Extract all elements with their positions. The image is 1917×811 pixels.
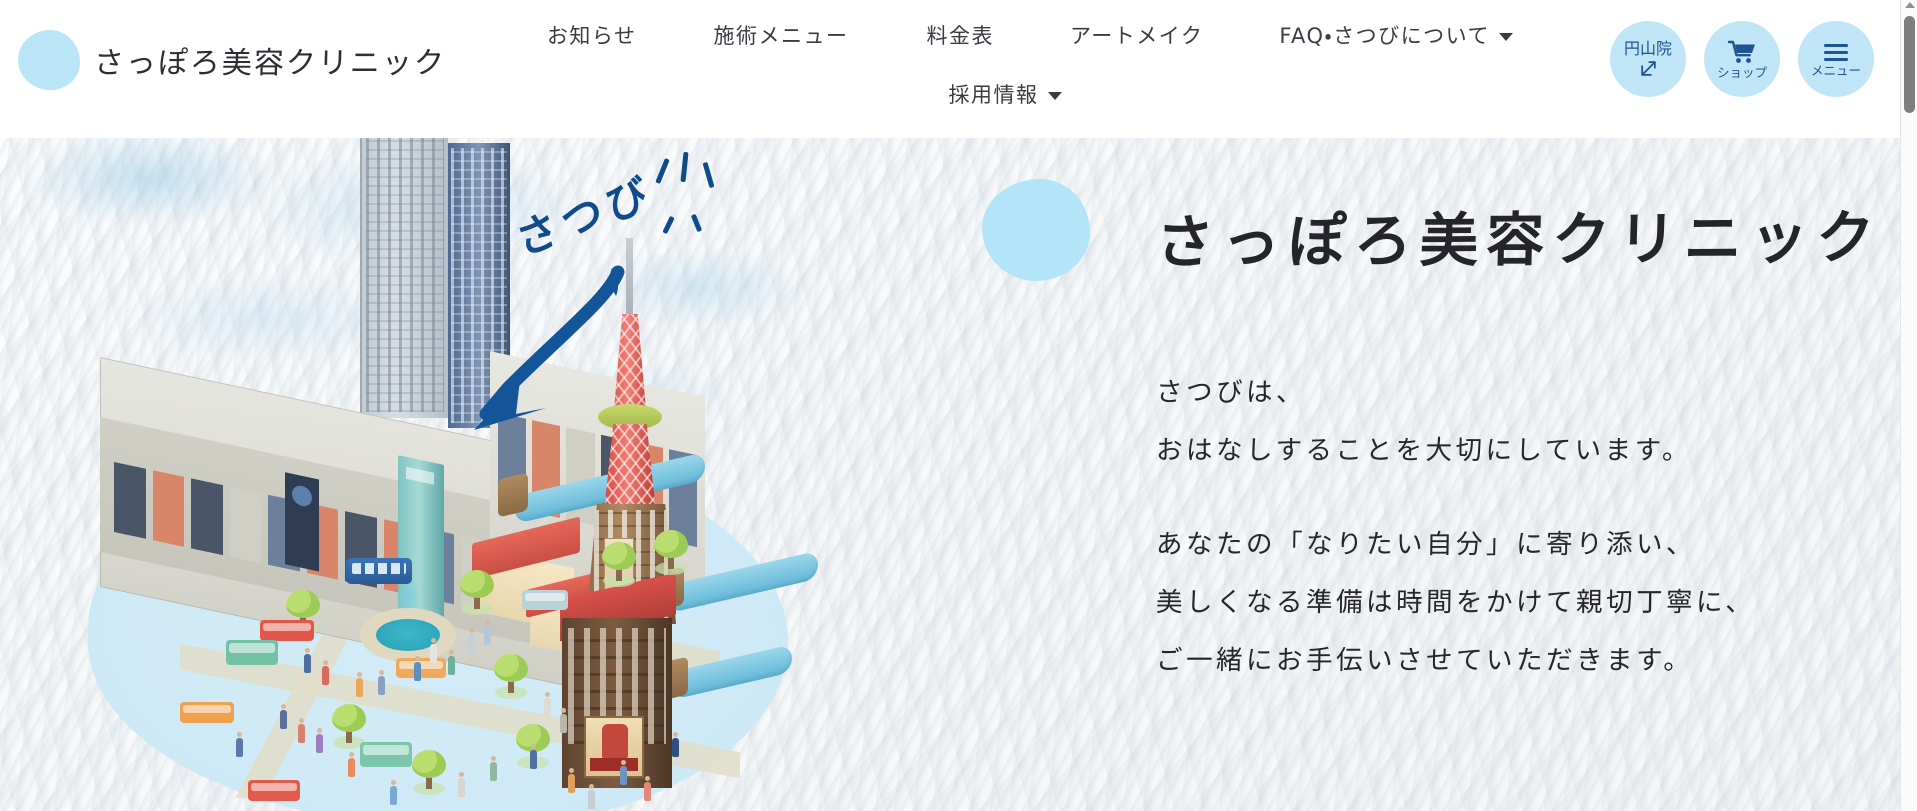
page-root: さっぽろ美容クリニック お知らせ 施術メニュー 料金表 アートメイク FAQ・さ… (0, 0, 1917, 811)
shop-label: ショップ (1717, 66, 1767, 80)
page-scrollbar[interactable] (1900, 0, 1917, 811)
hero-title: さっぽろ美容クリニック (1155, 204, 1857, 278)
curved-arrow-icon (412, 238, 632, 468)
person-icon (430, 644, 437, 663)
blob-circle-icon (18, 30, 80, 90)
sapporo-city-illustration: さつび (60, 138, 900, 811)
blob-decoration-icon (982, 179, 1090, 281)
nav-item-label: 採用情報 (949, 79, 1039, 109)
van-icon (226, 640, 278, 665)
sparkle-icon (691, 214, 702, 233)
car-icon (522, 590, 568, 610)
person-icon (378, 676, 385, 695)
nav-item-label: アートメイク (1070, 20, 1203, 50)
car-icon (180, 702, 234, 723)
person-icon (672, 738, 679, 757)
tree-icon (602, 542, 636, 582)
person-icon (644, 782, 651, 801)
tree-icon (654, 530, 688, 570)
nav-item-label: お知らせ (547, 20, 637, 50)
tube-entrance (498, 473, 528, 518)
person-icon (544, 698, 551, 717)
external-link-icon (1639, 59, 1658, 78)
store-logo-icon (285, 472, 319, 571)
person-icon (298, 724, 305, 743)
sparkle-icon (703, 162, 715, 188)
menu-button[interactable]: メニュー (1798, 21, 1874, 97)
fountain-icon (360, 608, 456, 662)
sparkle-icon (680, 152, 688, 182)
person-icon (560, 714, 567, 733)
nav-item-treatment-menu[interactable]: 施術メニュー (714, 14, 849, 56)
nikka-signboard (584, 716, 644, 778)
person-icon (304, 654, 311, 673)
person-icon (568, 774, 575, 793)
hero-paragraph2-line3: ご一緒にお手伝いさせていただきます。 (1155, 632, 1856, 690)
header-actions: 円山院 ショップ (1610, 21, 1874, 97)
person-icon (458, 778, 465, 797)
nav-item-label: FAQ・さつびについて (1279, 20, 1490, 50)
hero-paragraph1-line1: さつびは、 (1155, 364, 1856, 422)
hero-body: さつびは、 おはなしすることを大切にしています。 あなたの「なりたい自分」に寄り… (1156, 364, 1856, 690)
person-icon (448, 656, 455, 675)
shopping-cart-icon (1727, 39, 1757, 65)
hero-copy: さっぽろ美容クリニック さつびは、 おはなしすることを大切にしています。 あなた… (1156, 206, 1856, 690)
nikka-building-icon (562, 618, 672, 788)
person-icon (484, 626, 491, 645)
nav-item-label: 施術メニュー (714, 20, 849, 50)
maruyama-clinic-label: 円山院 (1624, 40, 1672, 58)
person-icon (236, 738, 243, 757)
hero-paragraph2-line2: 美しくなる準備は時間をかけて親切丁寧に、 (1155, 574, 1856, 632)
person-icon (356, 678, 363, 697)
site-logo[interactable]: さっぽろ美容クリニック (18, 30, 446, 90)
tree-icon (412, 750, 446, 790)
scrollbar-up-arrow-icon[interactable] (1905, 2, 1915, 8)
car-icon (260, 620, 314, 641)
paragraph-spacer (1156, 480, 1856, 516)
person-icon (414, 662, 421, 681)
sparkle-icon (662, 216, 674, 234)
maruyama-clinic-button[interactable]: 円山院 (1610, 21, 1686, 97)
person-icon (348, 758, 355, 777)
person-icon (588, 790, 595, 809)
nav-row-2: 採用情報 (500, 73, 1560, 115)
chevron-down-icon (1499, 33, 1513, 41)
sparkle-icon (655, 158, 669, 184)
nav-item-recruit[interactable]: 採用情報 (949, 73, 1062, 115)
person-icon (322, 666, 329, 685)
primary-navigation: お知らせ 施術メニュー 料金表 アートメイク FAQ・さつびについて (500, 14, 1560, 115)
hero-section: さつび さっぽろ美容クリニック さつびは、 おはなしすることを大切にしています。… (0, 138, 1900, 811)
menu-label: メニュー (1811, 64, 1861, 78)
nav-item-faq-about[interactable]: FAQ・さつびについて (1279, 14, 1513, 56)
nav-item-news[interactable]: お知らせ (547, 14, 637, 56)
hero-paragraph2-line1: あなたの「なりたい自分」に寄り添い、 (1155, 516, 1856, 574)
person-icon (280, 710, 287, 729)
person-icon (390, 786, 397, 805)
person-icon (468, 634, 475, 653)
car-icon (396, 658, 446, 678)
tree-icon (494, 654, 528, 694)
logo-text: さっぽろ美容クリニック (93, 38, 446, 82)
bus-icon (346, 558, 412, 584)
nav-item-price-list[interactable]: 料金表 (927, 14, 995, 56)
person-icon (316, 734, 323, 753)
chevron-down-icon (1048, 92, 1062, 100)
site-header: さっぽろ美容クリニック お知らせ 施術メニュー 料金表 アートメイク FAQ・さ… (0, 0, 1900, 138)
hero-paragraph1-line2: おはなしすることを大切にしています。 (1155, 422, 1856, 480)
hamburger-menu-icon (1821, 41, 1851, 63)
tree-icon (460, 570, 494, 610)
person-icon (490, 762, 497, 781)
car-icon (248, 780, 300, 801)
person-icon (530, 750, 537, 769)
scrollbar-thumb[interactable] (1904, 16, 1915, 113)
person-icon (620, 766, 627, 785)
nav-item-artmake[interactable]: アートメイク (1070, 14, 1203, 56)
nav-item-label: 料金表 (927, 20, 995, 50)
shop-button[interactable]: ショップ (1704, 21, 1780, 97)
van-icon (360, 742, 412, 767)
tree-icon (332, 704, 366, 744)
nav-row-1: お知らせ 施術メニュー 料金表 アートメイク FAQ・さつびについて (500, 14, 1560, 56)
